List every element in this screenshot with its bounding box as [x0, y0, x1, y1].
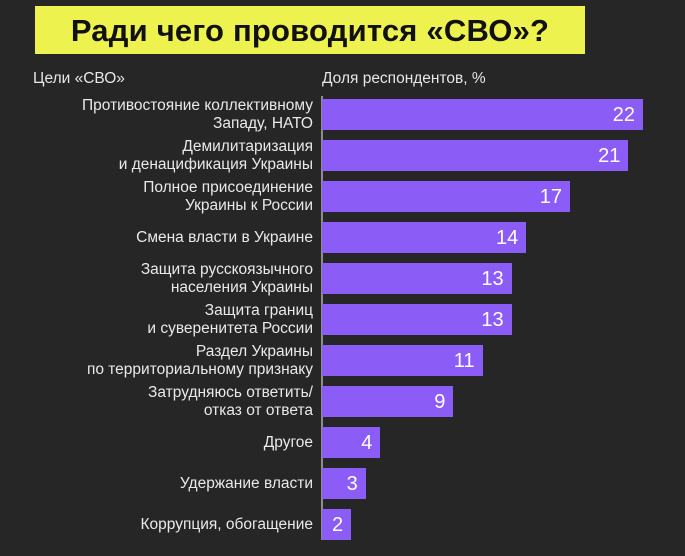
bar: 17: [322, 181, 570, 212]
bar: 22: [322, 99, 643, 130]
bar-category-label: Раздел Украины по территориальному призн…: [23, 343, 313, 379]
bar: 13: [322, 263, 512, 294]
bar-row: Другое4: [0, 427, 685, 458]
bar: 2: [322, 509, 351, 540]
bar-track: 2: [322, 509, 351, 540]
bar-track: 14: [322, 222, 526, 253]
bar-rows-container: Противостояние коллективному Западу, НАТ…: [0, 99, 685, 550]
bar-track: 13: [322, 304, 512, 335]
bar-row: Защита русскоязычного населения Украины1…: [0, 263, 685, 294]
bar-track: 21: [322, 140, 628, 171]
bar: 3: [322, 468, 366, 499]
bar-value-label: 3: [347, 474, 358, 494]
bar-track: 4: [322, 427, 380, 458]
bar: 4: [322, 427, 380, 458]
chart-title-band: Ради чего проводится «СВО»?: [35, 6, 585, 54]
bar-row: Демилитаризация и денацификация Украины2…: [0, 140, 685, 171]
bar-category-label: Коррупция, обогащение: [23, 516, 313, 534]
bar-value-label: 13: [481, 310, 503, 330]
bar-track: 11: [322, 345, 483, 376]
chart-root: Ради чего проводится «СВО»? Цели «СВО» Д…: [0, 0, 685, 556]
column-header-value: Доля респондентов, %: [322, 70, 486, 88]
bar-value-label: 9: [434, 392, 445, 412]
column-header-category: Цели «СВО»: [33, 70, 125, 88]
bar-category-label: Защита русскоязычного населения Украины: [23, 261, 313, 297]
bar-row: Коррупция, обогащение2: [0, 509, 685, 540]
bar-row: Полное присоединение Украины к России17: [0, 181, 685, 212]
bar: 9: [322, 386, 453, 417]
bar-category-label: Другое: [23, 434, 313, 452]
bar-row: Защита границ и суверенитета России13: [0, 304, 685, 335]
bar-row: Затрудняюсь ответить/ отказ от ответа9: [0, 386, 685, 417]
bar: 14: [322, 222, 526, 253]
bar-category-label: Удержание власти: [23, 475, 313, 493]
bar-value-label: 14: [496, 228, 518, 248]
bar-row: Раздел Украины по территориальному призн…: [0, 345, 685, 376]
bar-category-label: Затрудняюсь ответить/ отказ от ответа: [23, 384, 313, 420]
bar-value-label: 21: [598, 146, 620, 166]
bar-category-label: Полное присоединение Украины к России: [23, 179, 313, 215]
bar-track: 9: [322, 386, 453, 417]
bar-track: 3: [322, 468, 366, 499]
page-title: Ради чего проводится «СВО»?: [71, 15, 549, 46]
bar-track: 17: [322, 181, 570, 212]
bar: 13: [322, 304, 512, 335]
bar-category-label: Демилитаризация и денацификация Украины: [23, 138, 313, 174]
bar-category-label: Смена власти в Украине: [23, 229, 313, 247]
bar-category-label: Противостояние коллективному Западу, НАТ…: [23, 97, 313, 133]
bar-row: Удержание власти3: [0, 468, 685, 499]
bar-row: Противостояние коллективному Западу, НАТ…: [0, 99, 685, 130]
bar-value-label: 2: [332, 515, 343, 535]
bar-category-label: Защита границ и суверенитета России: [23, 302, 313, 338]
bar: 21: [322, 140, 628, 171]
bar: 11: [322, 345, 483, 376]
bar-value-label: 11: [454, 351, 475, 371]
bar-track: 13: [322, 263, 512, 294]
bar-track: 22: [322, 99, 643, 130]
bar-row: Смена власти в Украине14: [0, 222, 685, 253]
bar-value-label: 17: [540, 187, 562, 207]
bar-value-label: 4: [361, 433, 372, 453]
bar-value-label: 22: [613, 105, 635, 125]
bar-value-label: 13: [481, 269, 503, 289]
